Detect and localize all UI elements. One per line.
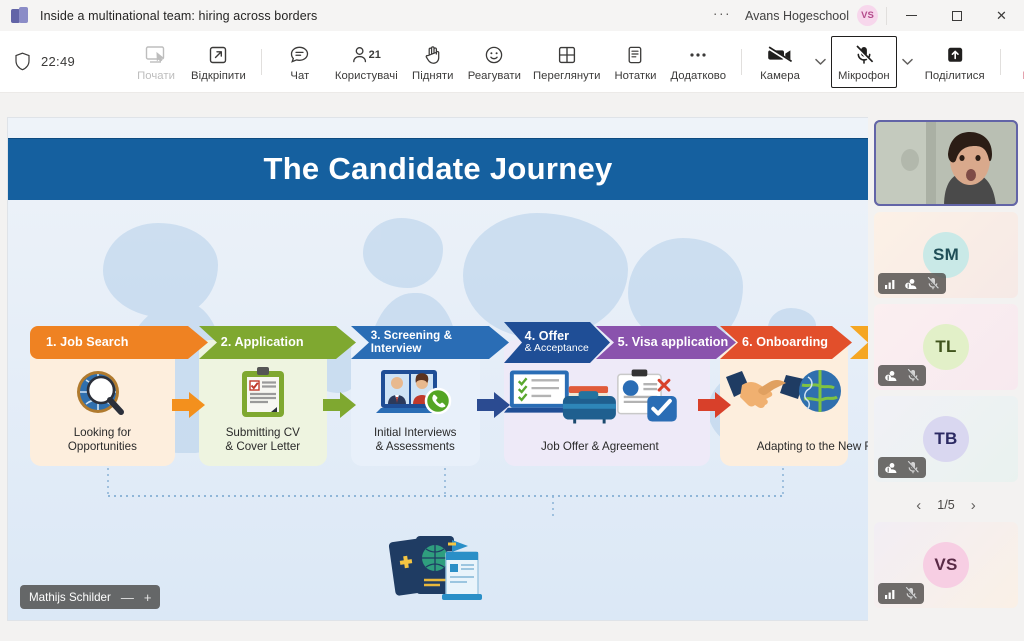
participant-tile-tb[interactable]: TB — [874, 396, 1018, 482]
minimize-button[interactable] — [889, 0, 934, 31]
record-screen-icon — [145, 42, 167, 68]
flow-step-header: 2. Application — [199, 326, 327, 359]
flow-step-header-label: 6. Onboarding — [742, 335, 828, 349]
meeting-title: Inside a multinational team: hiring acro… — [40, 9, 317, 23]
zoom-in-button[interactable]: + — [144, 591, 152, 604]
flow-step-header-label: 4. Offer — [525, 329, 570, 343]
flow-step-header-label: 3. Screening & Interview — [371, 329, 452, 354]
toolbar-divider — [261, 49, 262, 75]
toolbar-item-raise-hand[interactable]: Підняти — [404, 36, 462, 88]
self-video-feed — [874, 120, 1018, 206]
toolbar-item-reactions[interactable]: Реагувати — [462, 36, 527, 88]
toolbar-item-label: Нотатки — [614, 70, 656, 82]
camera-off-icon — [767, 42, 793, 68]
avatar-initials: SM — [933, 245, 959, 265]
camera-options-chevron-down-icon[interactable] — [809, 36, 831, 88]
participant-rail: SM TL TB ‹ 1/5 › — [868, 94, 1024, 641]
caption-line-2: & Cover Letter — [225, 440, 300, 453]
toolbar-item-view[interactable]: Переглянути — [527, 36, 606, 88]
toolbar-item-label: Додатково — [670, 70, 726, 82]
avatar: TB — [923, 416, 969, 462]
toolbar-item-label: Підняти — [412, 70, 453, 82]
caption-line-1: Job Offer & Agreement — [541, 440, 659, 453]
avatar: VS — [923, 542, 969, 588]
presenter-person-icon — [885, 462, 898, 474]
presenter-person-icon — [905, 278, 918, 290]
flow-step-3[interactable]: 3. Screening & Interview — [351, 326, 480, 466]
flow-step-caption: Adapting to the New Role — [720, 440, 868, 454]
encryption-shield-icon — [14, 52, 31, 71]
titlebar-overflow-icon[interactable]: ··· — [707, 8, 737, 24]
passport-visa-icon — [386, 522, 490, 618]
toolbar-item-camera[interactable]: Камера — [751, 36, 809, 88]
caption-line-1: Adapting to the New Role — [757, 440, 868, 453]
teams-meeting-window: Inside a multinational team: hiring acro… — [0, 0, 1024, 641]
clipboard-checklist-icon — [199, 364, 327, 422]
toolbar-item-share[interactable]: Поділитися — [919, 36, 991, 88]
teams-logo-icon — [11, 7, 29, 25]
caption-line-1: Submitting CV — [226, 426, 300, 439]
avatar-initials: TB — [934, 429, 957, 449]
flow-step-4[interactable]: 4. Offer & Acceptance 5. Visa applicatio… — [504, 326, 696, 466]
titlebar-divider — [886, 7, 887, 25]
account-avatar[interactable]: VS — [857, 5, 878, 26]
flow-step-header-label: 1. Job Search — [46, 335, 129, 349]
pop-out-icon — [208, 42, 228, 68]
flow-step-header: 3. Screening & Interview — [351, 326, 480, 359]
caption-line-2: & Assessments — [376, 440, 455, 453]
avatar: SM — [923, 232, 969, 278]
handshake-globe-icon — [720, 364, 848, 422]
flow-step-subheader-label: & Acceptance — [525, 344, 589, 355]
flow-step-1[interactable]: 1. Job Search Looking for Oppor — [30, 326, 175, 466]
presenter-name-chip: Mathijs Schilder — + — [20, 585, 160, 609]
toolbar-item-label: Відкріпити — [191, 70, 246, 82]
microphone-muted-icon — [907, 369, 919, 382]
reactions-smiley-icon — [484, 42, 504, 68]
toolbar-divider — [1000, 49, 1001, 75]
flow-step-6[interactable]: 6. Onboarding — [720, 326, 848, 466]
toolbar-item-start-recording[interactable]: Почати — [127, 36, 185, 88]
caption-line-1: Initial Interviews — [374, 426, 456, 439]
caption-line-2: Opportunities — [68, 440, 137, 453]
toolbar-items: Почати Відкріпити Чат 21 К — [127, 36, 1024, 88]
slide-title-bar: The Candidate Journey — [8, 138, 868, 200]
slide-title-text: The Candidate Journey — [263, 151, 612, 187]
video-interview-icon — [351, 364, 480, 422]
flow-step-2[interactable]: 2. Application — [199, 326, 327, 466]
avatar-initials: VS — [934, 555, 957, 575]
people-icon: 21 — [352, 42, 381, 68]
flow-arrow-3-to-4 — [475, 390, 513, 420]
toolbar-item-label: Камера — [760, 70, 800, 82]
flow-step-header: 6. Onboarding — [720, 326, 848, 359]
toolbar-item-label: Переглянути — [533, 70, 600, 82]
participants-count-badge: 21 — [369, 49, 381, 61]
network-bars-icon — [885, 588, 896, 599]
toolbar-item-pop-out[interactable]: Відкріпити — [185, 36, 252, 88]
participant-tile-self-video[interactable] — [874, 120, 1018, 206]
toolbar-item-more[interactable]: Додатково — [664, 36, 732, 88]
toolbar-item-microphone[interactable]: Мікрофон — [831, 36, 897, 88]
network-bars-icon — [885, 278, 896, 289]
flow-step-caption: Initial Interviews & Assessments — [351, 426, 480, 454]
microphone-muted-icon — [854, 42, 874, 68]
toolbar-item-chat[interactable]: Чат — [271, 36, 329, 88]
candidate-journey-flow: 1. Job Search Looking for Oppor — [30, 326, 848, 466]
close-button[interactable]: ✕ — [979, 0, 1024, 31]
participant-tile-sm[interactable]: SM — [874, 212, 1018, 298]
flow-step-header-label: 2. Application — [221, 335, 304, 349]
toolbar-item-leave[interactable]: Вийти — [1010, 36, 1024, 88]
more-ellipsis-icon — [687, 42, 709, 68]
toolbar-item-label: Чат — [290, 70, 309, 82]
meeting-timer: 22:49 — [41, 54, 75, 69]
participant-status-pills — [878, 583, 924, 604]
caption-line-1: Looking for — [74, 426, 131, 439]
participant-tile-vs[interactable]: VS — [874, 522, 1018, 608]
organization-name: Avans Hogeschool — [737, 9, 857, 23]
participant-status-pills — [878, 365, 926, 386]
shared-presentation-slide[interactable]: The Candidate Journey 1 — [8, 118, 868, 620]
flow-step-caption: Looking for Opportunities — [30, 426, 175, 454]
notes-icon — [626, 42, 644, 68]
microphone-muted-icon — [905, 587, 917, 600]
flow-arrow-2-to-3 — [321, 390, 359, 420]
toolbar-divider — [741, 49, 742, 75]
maximize-button[interactable] — [934, 0, 979, 31]
offer-checklist-suitcase-icon — [504, 366, 696, 424]
share-screen-icon — [944, 42, 966, 68]
toolbar-item-label: Користувачі — [335, 70, 398, 82]
participant-status-pills — [878, 273, 946, 294]
flow-arrow-5-to-6 — [696, 390, 734, 420]
toolbar-item-label: Поділитися — [925, 70, 985, 82]
pager-label: 1/5 — [937, 498, 954, 512]
flow-arrow-1-to-2 — [170, 390, 208, 420]
flow-step-caption: Submitting CV & Cover Letter — [199, 426, 327, 454]
participant-rail-pager: ‹ 1/5 › — [874, 488, 1018, 522]
pager-prev-button[interactable]: ‹ — [916, 498, 921, 513]
participant-status-pills — [878, 457, 926, 478]
toolbar-item-notes[interactable]: Нотатки — [606, 36, 664, 88]
toolbar-item-label: Реагувати — [468, 70, 521, 82]
flow-step-header-label: 5. Visa application — [618, 335, 729, 349]
title-bar: Inside a multinational team: hiring acro… — [0, 0, 1024, 31]
participant-tile-tl[interactable]: TL — [874, 304, 1018, 390]
microphone-muted-icon — [907, 461, 919, 474]
zoom-out-button[interactable]: — — [121, 591, 134, 604]
presenter-person-icon — [885, 370, 898, 382]
toolbar-item-participants[interactable]: 21 Користувачі — [329, 36, 404, 88]
flow-step-header: 1. Job Search — [30, 326, 175, 359]
avatar-initials: TL — [935, 337, 956, 357]
pager-next-button[interactable]: › — [971, 498, 976, 513]
toolbar-item-label: Почати — [137, 70, 175, 82]
flow-step-caption: Job Offer & Agreement — [504, 440, 696, 454]
toolbar-item-label: Мікрофон — [838, 70, 890, 82]
microphone-muted-icon — [927, 277, 939, 290]
microphone-options-chevron-down-icon[interactable] — [897, 36, 919, 88]
raise-hand-icon — [424, 42, 442, 68]
globe-magnifier-icon — [30, 364, 175, 422]
chat-icon — [289, 42, 310, 68]
presenter-name: Mathijs Schilder — [29, 591, 111, 604]
flow-step-5-header: 5. Visa application — [596, 326, 736, 359]
view-grid-icon — [557, 42, 577, 68]
meeting-toolbar: 22:49 Почати Відкріпити Чат — [0, 31, 1024, 93]
avatar: TL — [923, 324, 969, 370]
